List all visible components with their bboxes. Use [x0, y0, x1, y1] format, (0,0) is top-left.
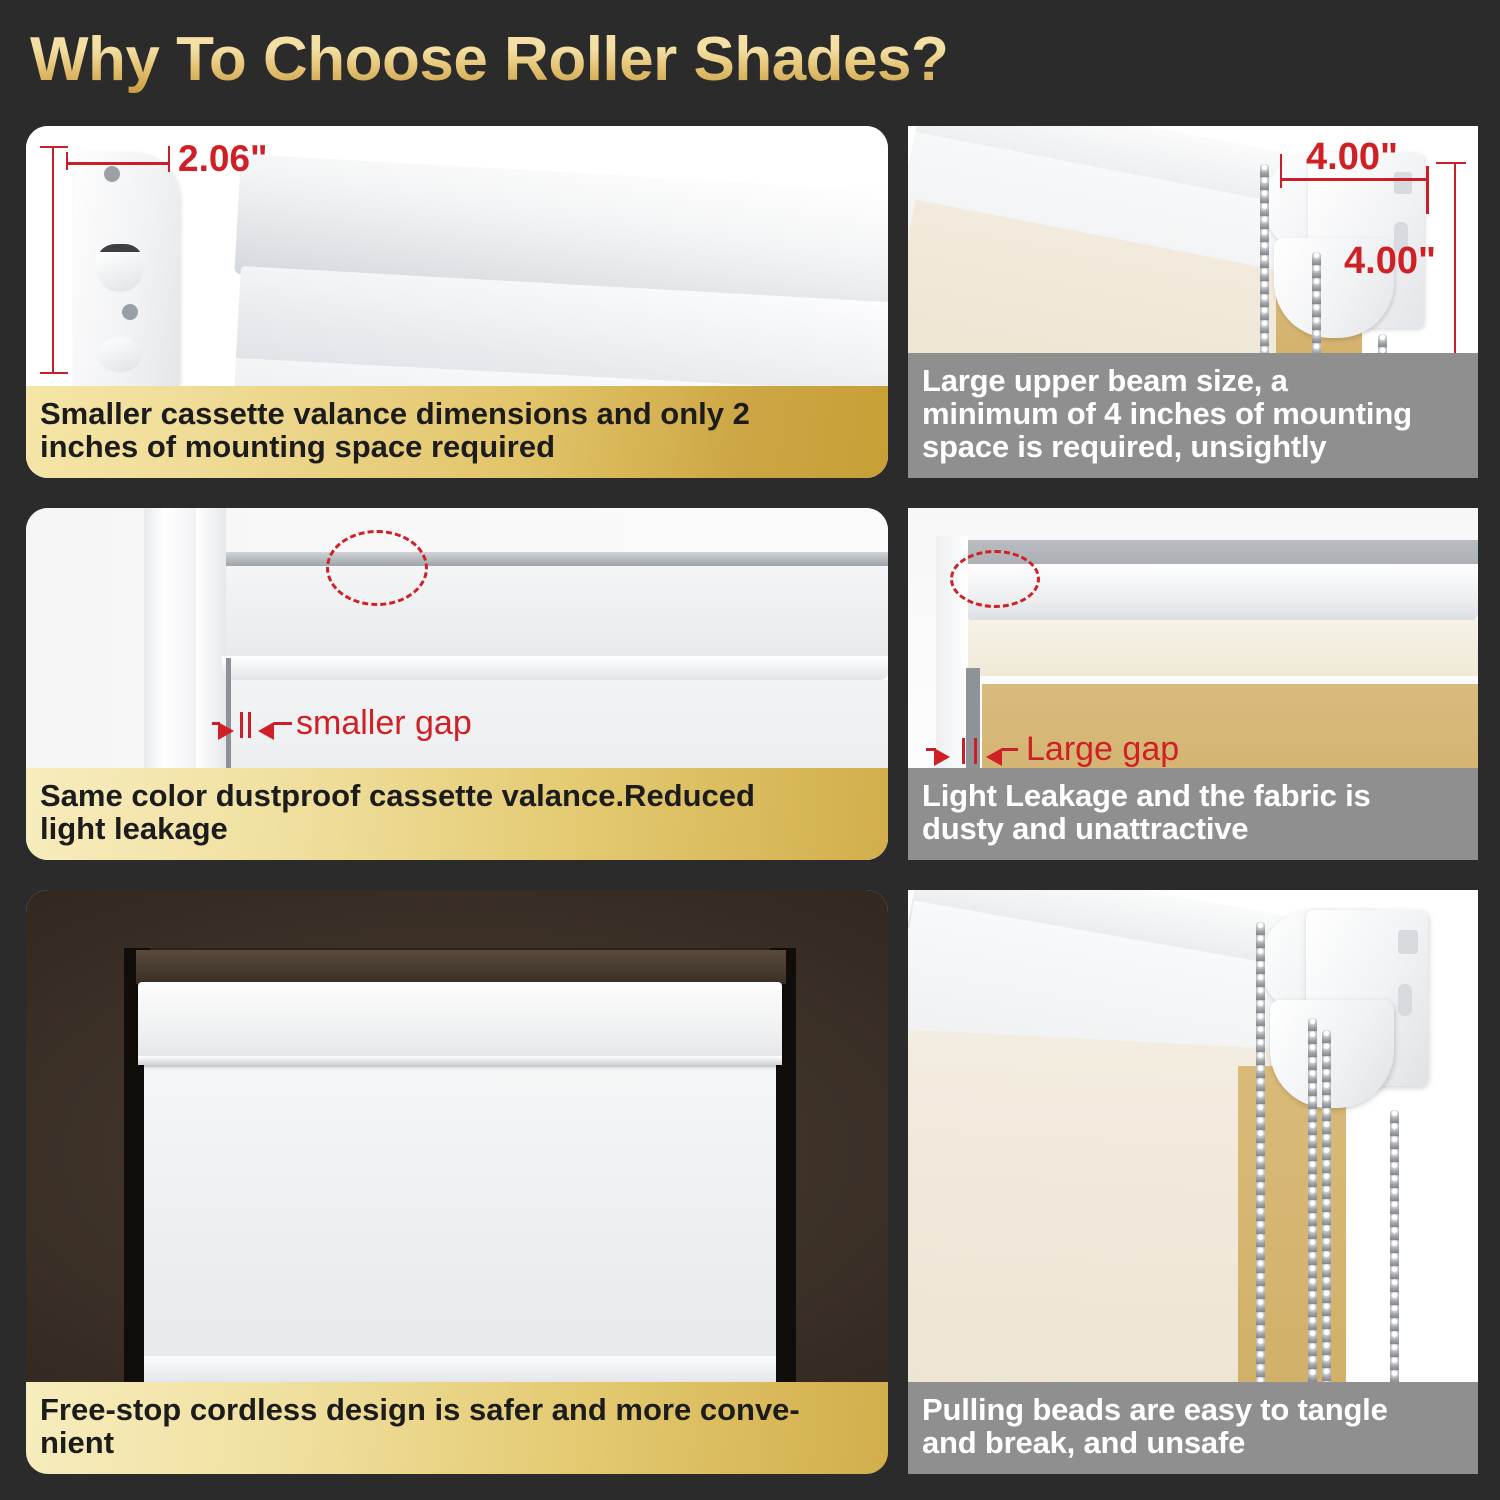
dimension-label-height: 4.00" [1344, 240, 1436, 283]
dim-arrow-width [66, 162, 170, 165]
panel-large-upper-beam: 4.00" 4.00" Large upper beam size, a min… [908, 126, 1478, 478]
panel-2-caption: Large upper beam size, a minimum of 4 in… [908, 353, 1478, 478]
dim-tick-top-right [168, 146, 170, 172]
caption-line: light leakage [40, 813, 874, 846]
caption-line: and break, and unsafe [922, 1427, 1464, 1460]
caption-line: dusty and unattractive [922, 813, 1464, 846]
caption-line: Light Leakage and the fabric is [922, 780, 1464, 813]
caption-line: Pulling beads are easy to tangle [922, 1394, 1464, 1427]
cassette-endcap [74, 152, 180, 390]
panel-5-caption: Free-stop cordless design is safer and m… [26, 1382, 888, 1474]
highlight-circle [326, 530, 428, 606]
page-title: Why To Choose Roller Shades? [30, 24, 948, 95]
gap-label-large: Large gap [1026, 730, 1179, 769]
dim-tick-top-left [66, 152, 68, 170]
panel-pulling-beads: Pulling beads are easy to tangle and bre… [908, 890, 1478, 1474]
caption-line: Smaller cassette valance dimensions and … [40, 398, 874, 431]
panel-dustproof-cassette: smaller gap Same color dustproof cassett… [26, 508, 888, 860]
bottom-rail [144, 1356, 776, 1382]
caption-line: nient [40, 1427, 874, 1460]
roller-shade-fabric [144, 1065, 776, 1365]
caption-line: inches of mounting space required [40, 431, 874, 464]
caption-line: Free-stop cordless design is safer and m… [40, 1394, 874, 1427]
panel-light-leakage: Large gap Light Leakage and the fabric i… [908, 508, 1478, 860]
dimension-label-width: 2.06" [178, 138, 268, 180]
panel-smaller-cassette: 2.06" 5.49" Smaller cassette valance dim… [26, 126, 888, 478]
panel-3-caption: Same color dustproof cassette valance.Re… [26, 768, 888, 860]
highlight-circle [950, 550, 1040, 608]
dim-line-height [1454, 162, 1456, 372]
infographic-root: Why To Choose Roller Shades? 2.06" [0, 0, 1500, 1500]
dimension-label-width: 4.00" [1306, 136, 1398, 179]
panel-6-caption: Pulling beads are easy to tangle and bre… [908, 1382, 1478, 1474]
caption-line: minimum of 4 inches of mounting [922, 398, 1464, 431]
caption-line: Large upper beam size, a [922, 365, 1464, 398]
cassette-valance [138, 982, 782, 1064]
caption-line: space is required, unsightly [922, 431, 1464, 464]
dim-line-height [52, 146, 54, 374]
panel-1-caption: Smaller cassette valance dimensions and … [26, 386, 888, 478]
panel-cordless-design: Free-stop cordless design is safer and m… [26, 890, 888, 1474]
panel-4-caption: Light Leakage and the fabric is dusty an… [908, 768, 1478, 860]
clutch-bracket-lower [1270, 1000, 1394, 1108]
caption-line: Same color dustproof cassette valance.Re… [40, 780, 874, 813]
gap-label-smaller: smaller gap [296, 704, 472, 743]
